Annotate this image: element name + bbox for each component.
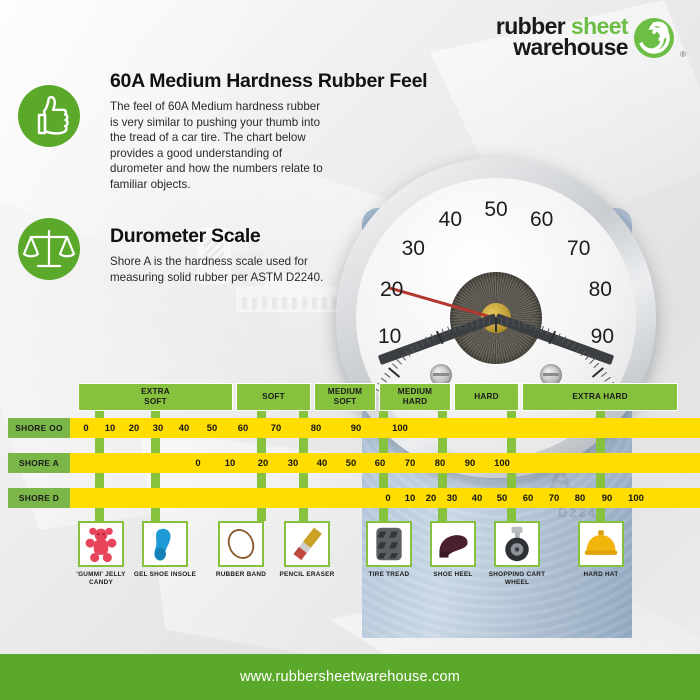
product-caption: HARD HAT <box>565 571 637 579</box>
brand-logo[interactable]: rubber sheet warehouse ® <box>486 14 686 64</box>
tire-tread-icon <box>368 523 410 565</box>
category-header-label: EXTRASOFT <box>141 387 170 406</box>
scale-tick-value: 80 <box>311 418 321 438</box>
scale-tick-value: 10 <box>105 418 115 438</box>
category-header-extra-hard: EXTRA HARD <box>522 383 678 411</box>
product-caption: PENCIL ERASER <box>271 571 343 579</box>
scale-tick-value: 40 <box>317 453 327 473</box>
product-caption: RUBBER BAND <box>205 571 277 579</box>
gauge-dial-number: 80 <box>589 278 612 302</box>
product-caption: TIRE TREAD <box>353 571 425 579</box>
product-card-tire-tread <box>366 521 412 567</box>
product-card-gummy-bear <box>78 521 124 567</box>
gauge-dial-number: 90 <box>591 325 614 349</box>
category-header-label: MEDIUMSOFT <box>328 387 362 406</box>
footer-bar: www.rubbersheetwarehouse.com <box>0 654 700 700</box>
pencil-eraser-icon <box>286 523 328 565</box>
category-header-label: EXTRA HARD <box>572 392 627 402</box>
scale-tick-value: 70 <box>405 453 415 473</box>
registered-trademark: ® <box>680 50 686 59</box>
product-caption: 'GUMMI' JELLY CANDY <box>65 571 137 587</box>
scale-tick-value: 30 <box>447 488 457 508</box>
gauge-dial-number: 20 <box>380 278 403 302</box>
section-durometer-scale: Durometer Scale Shore A is the hardness … <box>110 225 325 285</box>
scale-tick-value: 10 <box>405 488 415 508</box>
spiral-logo-icon <box>632 16 676 60</box>
product-card-gel-insole <box>142 521 188 567</box>
scale-tick-value: 0 <box>195 453 200 473</box>
scale-tick-value: 60 <box>523 488 533 508</box>
scale-tick-value: 40 <box>179 418 189 438</box>
category-header-medium-soft: MEDIUMSOFT <box>314 383 376 411</box>
section-thumbs-up: 60A Medium Hardness Rubber Feel The feel… <box>110 70 427 193</box>
section-title-2: Durometer Scale <box>110 225 325 248</box>
scale-tick-value: 0 <box>385 488 390 508</box>
product-card-shoe-heel <box>430 521 476 567</box>
gauge-dial-number: 60 <box>530 208 553 232</box>
gauge-dial-number: 10 <box>378 325 401 349</box>
scale-bar-shore-oo <box>70 418 700 438</box>
product-card-rubber-band <box>218 521 264 567</box>
thumbs-up-icon <box>18 85 80 147</box>
section-body-2: Shore A is the hardness scale used for m… <box>110 254 325 285</box>
scale-tick-value: 100 <box>392 418 408 438</box>
gel-insole-icon <box>144 523 186 565</box>
gauge-dial-number: 30 <box>402 237 425 261</box>
gauge-dial-number: 70 <box>567 237 590 261</box>
section-title-1: 60A Medium Hardness Rubber Feel <box>110 70 427 93</box>
gauge-dial-number: 50 <box>484 198 507 222</box>
category-header-label: SOFT <box>262 392 285 402</box>
scale-tick-value: 30 <box>153 418 163 438</box>
category-header-hard: HARD <box>454 383 519 411</box>
footer-url[interactable]: www.rubbersheetwarehouse.com <box>240 669 460 685</box>
scale-tick-value: 90 <box>351 418 361 438</box>
scale-tick-value: 20 <box>258 453 268 473</box>
logo-line-2: warehouse <box>496 37 628 58</box>
balance-scale-icon-circle <box>18 218 80 280</box>
category-header-soft: SOFT <box>236 383 311 411</box>
scale-tick-value: 50 <box>207 418 217 438</box>
scale-tick-value: 90 <box>465 453 475 473</box>
rubber-band-icon <box>220 523 262 565</box>
category-header-extra-soft: EXTRASOFT <box>78 383 233 411</box>
scale-tick-value: 60 <box>375 453 385 473</box>
scale-tick-value: 90 <box>602 488 612 508</box>
section-body-1: The feel of 60A Medium hardness rubber i… <box>110 99 325 193</box>
category-header-label: HARD <box>474 392 498 402</box>
scale-row-label: SHORE OO <box>8 418 70 438</box>
scale-tick-value: 80 <box>575 488 585 508</box>
scale-tick-value: 20 <box>129 418 139 438</box>
scale-tick-value: 100 <box>628 488 644 508</box>
scale-tick-value: 70 <box>271 418 281 438</box>
scale-row-label: SHORE A <box>8 453 70 473</box>
product-card-pencil-eraser <box>284 521 330 567</box>
scale-tick-value: 40 <box>472 488 482 508</box>
hard-hat-icon <box>580 523 622 565</box>
gauge-dial-number: 40 <box>439 208 462 232</box>
scale-tick-value: 70 <box>549 488 559 508</box>
product-caption: SHOPPING CART WHEEL <box>481 571 553 587</box>
scale-tick-value: 0 <box>83 418 88 438</box>
scale-tick-value: 50 <box>497 488 507 508</box>
scale-tick-value: 60 <box>238 418 248 438</box>
balance-scale-icon <box>18 218 80 280</box>
scale-tick-value: 30 <box>288 453 298 473</box>
category-header-medium-hard: MEDIUMHARD <box>379 383 451 411</box>
logo-wordmark: rubber sheet warehouse <box>496 16 628 59</box>
product-card-cart-wheel <box>494 521 540 567</box>
thumbs-up-icon-circle <box>18 85 80 147</box>
scale-tick-value: 50 <box>346 453 356 473</box>
product-card-hard-hat <box>578 521 624 567</box>
cart-wheel-icon <box>496 523 538 565</box>
product-caption: GEL SHOE INSOLE <box>129 571 201 579</box>
gummy-bear-icon <box>80 523 122 565</box>
scale-row-label: SHORE D <box>8 488 70 508</box>
durometer-scale-chart: EXTRASOFTSOFTMEDIUMSOFTMEDIUMHARDHARDEXT… <box>0 383 700 533</box>
category-header-label: MEDIUMHARD <box>398 387 432 406</box>
scale-tick-value: 80 <box>435 453 445 473</box>
scale-tick-value: 100 <box>494 453 510 473</box>
shoe-heel-icon <box>432 523 474 565</box>
product-caption: SHOE HEEL <box>417 571 489 579</box>
infographic-page: A ASTM D2240 102030405060708090 rubber s… <box>0 0 700 700</box>
scale-tick-value: 20 <box>426 488 436 508</box>
scale-tick-value: 10 <box>225 453 235 473</box>
